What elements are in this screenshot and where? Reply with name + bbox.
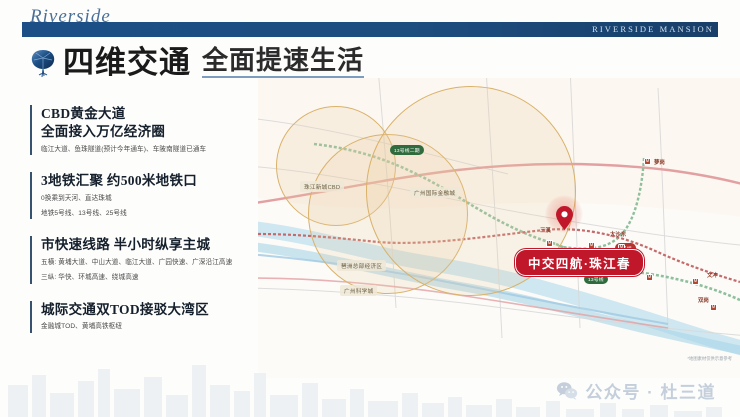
map-district-label: 广州科学城 (340, 285, 377, 296)
station-label: 大沙东 (610, 230, 626, 238)
station-label: 文冲 (707, 271, 718, 279)
feature-desc: 0换乘到天河、直达珠城 (41, 194, 265, 205)
map-district-label: 琶洲总部经济区 (337, 260, 386, 271)
feature-item-cbd: CBD黄金大道 全面接入万亿经济圈 临江大道、鱼珠隧道(预计今年通车)、车陂南隧… (30, 105, 265, 155)
metro-station-marker: M (644, 158, 651, 165)
project-name-label[interactable]: 中交四航·珠江春 (515, 249, 644, 276)
feature-desc: 金融城TOD、黄埔高铁枢纽 (41, 322, 265, 333)
metro-station-marker: M (588, 242, 595, 249)
metro-station-marker: M (546, 240, 553, 247)
station-label: 萝岗 (654, 158, 665, 166)
watermark: 公众号 · 杜三道 (556, 378, 716, 403)
metro-line-badge: 13号线二期 (390, 145, 424, 155)
watermark-text: 公众号 · 杜三道 (585, 378, 716, 403)
page-title: 四维交通 全面提速生活 (30, 47, 364, 78)
feature-desc: 五横: 黄埔大道、中山大道、临江大道、广园快速、广深沿江高速 (41, 258, 265, 269)
wechat-icon (556, 380, 578, 402)
diamond-gem-icon (30, 48, 56, 78)
feature-desc: 临江大道、鱼珠隧道(预计今年通车)、车陂南隧道已通车 (41, 145, 265, 156)
feature-item-tod: 城际交通双TOD接驳大湾区 金融城TOD、黄埔高铁枢纽 (30, 301, 265, 333)
metro-station-marker: M (710, 304, 717, 311)
feature-list: CBD黄金大道 全面接入万亿经济圈 临江大道、鱼珠隧道(预计今年通车)、车陂南隧… (30, 105, 265, 350)
title-main: 四维交通 (63, 47, 191, 78)
feature-title: 城际交通双TOD接驳大湾区 (41, 301, 265, 319)
feature-item-metro: 3地铁汇聚 约500米地铁口 0换乘到天河、直达珠城 地铁5号线、13号线、25… (30, 172, 265, 219)
feature-title: CBD黄金大道 (41, 105, 265, 123)
station-label: 双岗 (698, 296, 709, 304)
feature-item-expressway: 市快速线路 半小时纵享主城 五横: 黄埔大道、中山大道、临江大道、广园快速、广深… (30, 236, 265, 283)
poster-page: Riverside RIVERSIDE MANSION 四维交通 全面提速生活 (0, 0, 740, 417)
map-district-label: 广州国际金融城 (410, 187, 459, 198)
feature-title-2: 全面接入万亿经济圈 (41, 123, 265, 141)
feature-desc-2: 三纵: 华快、环城高速、绕城高速 (41, 273, 265, 284)
metro-station-marker: M (646, 274, 653, 281)
brand-english-name: RIVERSIDE MANSION (592, 24, 714, 34)
title-sub: 全面提速生活 (202, 48, 364, 78)
feature-desc-2: 地铁5号线、13号线、25号线 (41, 209, 265, 220)
station-label: 三溪 (540, 226, 551, 234)
feature-title: 3地铁汇聚 约500米地铁口 (41, 172, 265, 190)
brand-script-logo: Riverside (30, 6, 140, 36)
feature-title: 市快速线路 半小时纵享主城 (41, 236, 265, 254)
location-map: 珠江新城CBD 广州国际金融城 琶洲总部经济区 广州科学城 13号线二期 5号线… (258, 78, 740, 378)
map-district-label: 珠江新城CBD (300, 181, 344, 192)
metro-station-marker: M (692, 278, 699, 285)
